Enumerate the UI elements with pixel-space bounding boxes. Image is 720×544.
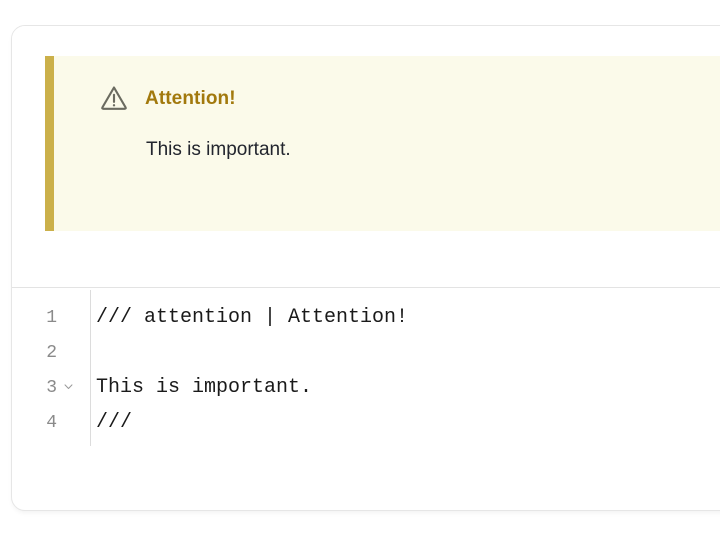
attention-callout: Attention! This is important.	[45, 56, 720, 231]
demo-card: Attention! This is important. 1 /// atte…	[11, 25, 720, 511]
code-line[interactable]: 3 This is important.	[12, 370, 720, 405]
line-gutter: 1	[12, 308, 79, 328]
line-gutter: 4	[12, 413, 79, 433]
code-line[interactable]: 4 ///	[12, 405, 720, 440]
line-number: 4	[35, 413, 57, 433]
line-number: 2	[35, 343, 57, 363]
code-editor[interactable]: 1 /// attention | Attention! 2 3	[12, 300, 720, 440]
code-line[interactable]: 2	[12, 335, 720, 370]
line-gutter: 2	[12, 343, 79, 363]
chevron-down-icon[interactable]	[63, 381, 74, 392]
callout-body-text: This is important.	[54, 113, 720, 163]
line-number: 3	[35, 378, 57, 398]
page-canvas: Attention! This is important. 1 /// atte…	[0, 0, 720, 544]
fold-slot[interactable]	[57, 378, 79, 398]
code-line[interactable]: 1 /// attention | Attention!	[12, 300, 720, 335]
code-line-text[interactable]: /// attention | Attention!	[79, 308, 720, 328]
code-line-text[interactable]: This is important.	[79, 378, 720, 398]
warning-triangle-icon	[99, 83, 129, 113]
callout-title: Attention!	[145, 89, 236, 108]
code-line-text[interactable]: ///	[79, 413, 720, 433]
preview-pane: Attention! This is important.	[12, 26, 720, 287]
line-gutter: 3	[12, 378, 79, 398]
line-number: 1	[35, 308, 57, 328]
callout-header: Attention!	[54, 56, 720, 113]
code-pane: 1 /// attention | Attention! 2 3	[12, 288, 720, 458]
